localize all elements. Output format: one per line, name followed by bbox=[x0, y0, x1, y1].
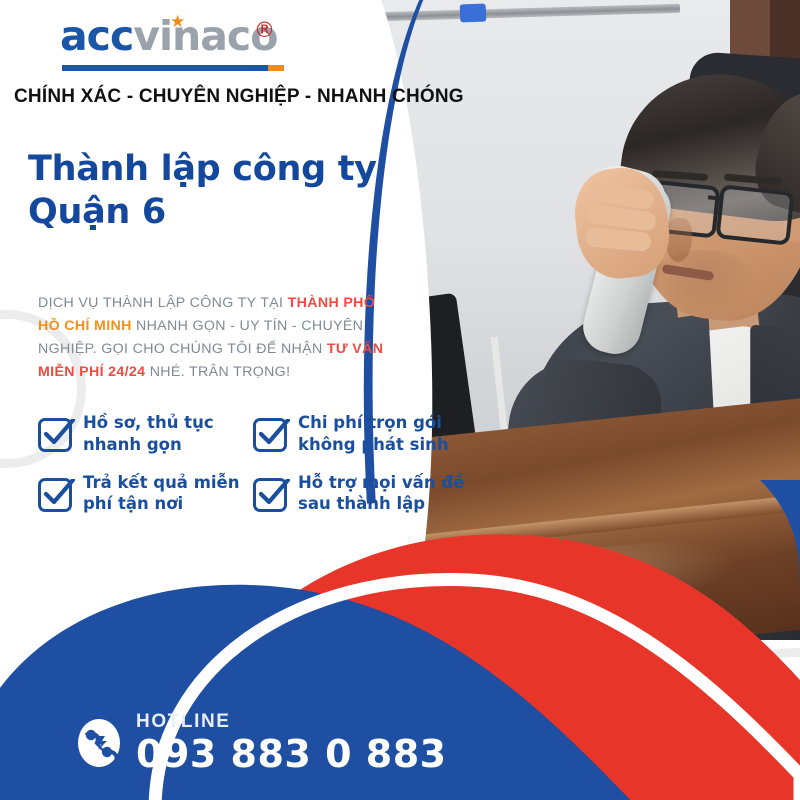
registered-trademark-icon: ® bbox=[254, 18, 275, 42]
hotline-label: HOTLINE bbox=[136, 712, 447, 731]
feature-item-tra-ket-qua[interactable]: Trả kết quả miễn phí tận nơi bbox=[38, 472, 253, 516]
feature-list: Hồ sơ, thủ tục nhanh gọn Chi phí trọn gó… bbox=[38, 412, 498, 531]
feature-line-1: Trả kết quả miễn bbox=[83, 472, 239, 494]
page-title: Thành lập công ty Quận 6 bbox=[28, 148, 398, 233]
feature-row: Hồ sơ, thủ tục nhanh gọn Chi phí trọn gó… bbox=[38, 412, 498, 456]
checkbox-check-icon bbox=[38, 414, 72, 448]
logo-underline-tip bbox=[268, 65, 284, 71]
feature-label: Hồ sơ, thủ tục nhanh gọn bbox=[83, 412, 214, 456]
feature-row: Trả kết quả miễn phí tận nơi Hỗ trợ mọi … bbox=[38, 472, 498, 516]
feature-line-2: nhanh gọn bbox=[83, 434, 214, 456]
checkbox-check-icon bbox=[253, 414, 287, 448]
desc-part-3: NHÉ. TRÂN TRỌNG! bbox=[145, 364, 290, 380]
checkbox-check-icon bbox=[38, 474, 72, 508]
content-column: accvinaco ★ ® CHÍNH XÁC - CHUYÊN NGHIỆP … bbox=[0, 0, 400, 800]
chin-shadow bbox=[648, 250, 758, 320]
feature-line-1: Hỗ trợ mọi vấn đề bbox=[298, 472, 464, 494]
eyeglasses-lens-right bbox=[715, 184, 794, 245]
checkbox-check-icon bbox=[253, 474, 287, 508]
blue-corner-accent bbox=[760, 480, 800, 590]
hotline-text: HOTLINE 093 883 0 883 bbox=[136, 712, 447, 775]
brand-tagline: CHÍNH XÁC - CHUYÊN NGHIỆP - NHANH CHÓNG bbox=[14, 86, 384, 108]
desc-highlight-ho-chi-minh: HỒ CHÍ MINH bbox=[38, 318, 132, 334]
hotline-number[interactable]: 093 883 0 883 bbox=[136, 735, 447, 775]
headline-line-1: Thành lập công ty bbox=[28, 148, 398, 191]
description-paragraph: DỊCH VỤ THÀNH LẬP CÔNG TY TẠI THÀNH PHỐ … bbox=[38, 292, 398, 384]
logo-underline-bar bbox=[62, 65, 276, 71]
star-icon: ★ bbox=[170, 13, 185, 30]
feature-item-ho-tro[interactable]: Hỗ trợ mọi vấn đề sau thành lập bbox=[253, 472, 468, 516]
promo-banner: accvinaco ★ ® CHÍNH XÁC - CHUYÊN NGHIỆP … bbox=[0, 0, 800, 800]
headline-line-2: Quận 6 bbox=[28, 191, 398, 234]
feature-line-2: không phát sinh bbox=[298, 434, 449, 456]
feature-item-ho-so[interactable]: Hồ sơ, thủ tục nhanh gọn bbox=[38, 412, 253, 456]
accvinaco-logo[interactable]: accvinaco ★ ® bbox=[60, 16, 290, 76]
feature-line-2: sau thành lập bbox=[298, 493, 464, 515]
feature-label: Chi phí trọn gói không phát sinh bbox=[298, 412, 449, 456]
phone-icon bbox=[76, 718, 122, 768]
hotline-block[interactable]: HOTLINE 093 883 0 883 bbox=[76, 712, 447, 775]
feature-line-1: Hồ sơ, thủ tục bbox=[83, 412, 214, 434]
logo-text-acc: acc bbox=[60, 12, 133, 60]
feature-label: Trả kết quả miễn phí tận nơi bbox=[83, 472, 239, 516]
feature-line-1: Chi phí trọn gói bbox=[298, 412, 449, 434]
feature-line-2: phí tận nơi bbox=[83, 493, 239, 515]
feature-item-chi-phi[interactable]: Chi phí trọn gói không phát sinh bbox=[253, 412, 468, 456]
feature-label: Hỗ trợ mọi vấn đề sau thành lập bbox=[298, 472, 464, 516]
desc-part-1: DỊCH VỤ THÀNH LẬP CÔNG TY TẠI bbox=[38, 295, 288, 311]
desc-highlight-thanh-pho: THÀNH PHỐ bbox=[288, 295, 376, 311]
